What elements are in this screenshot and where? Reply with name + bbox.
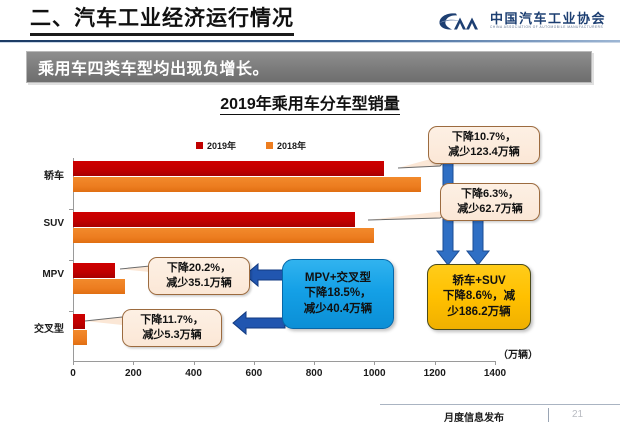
y-label-sedan: 轿车 xyxy=(0,167,64,182)
x-tick-label-1200: 1200 xyxy=(424,368,446,379)
slide: 二、汽车工业经济运行情况 中国汽车工业协会 CHINA ASSOCIATION … xyxy=(0,0,620,429)
callout-suv-line1: 下降6.3%， xyxy=(446,187,534,202)
y-tick-1 xyxy=(69,209,73,210)
x-tick-200 xyxy=(133,361,134,365)
footer-text: 月度信息发布 xyxy=(444,409,504,424)
x-tick-1200 xyxy=(435,361,436,365)
footer-separator xyxy=(548,408,549,422)
callout-crossover-line2: 减少5.3万辆 xyxy=(128,328,216,343)
footer-divider xyxy=(380,404,620,405)
x-tick-1000 xyxy=(374,361,375,365)
callout-sedan: 下降10.7%， 减少123.4万辆 xyxy=(428,126,540,164)
header-divider-light xyxy=(0,42,620,43)
callout-crossover-line1: 下降11.7%， xyxy=(128,313,216,328)
x-tick-600 xyxy=(254,361,255,365)
x-tick-label-600: 600 xyxy=(246,368,263,379)
bar-2019-mpv xyxy=(73,263,115,278)
callout-suv-line2: 减少62.7万辆 xyxy=(446,202,534,217)
callout-sedan-line2: 减少123.4万辆 xyxy=(434,145,534,160)
x-axis-line xyxy=(73,361,495,362)
chart-legend: 2019年 2018年 xyxy=(196,139,306,152)
summary-yellow-line2: 下降8.6%，减 xyxy=(428,289,530,305)
summary-blue-line2: 下降18.5%， xyxy=(283,286,393,302)
summary-yellow-line1: 轿车+SUV xyxy=(428,274,530,290)
x-tick-0 xyxy=(73,361,74,365)
y-tick-2 xyxy=(69,260,73,261)
x-tick-label-400: 400 xyxy=(185,368,202,379)
x-tick-label-1000: 1000 xyxy=(363,368,385,379)
legend-swatch-2018 xyxy=(266,142,273,149)
legend-label-2018: 2018年 xyxy=(277,139,306,152)
x-tick-label-800: 800 xyxy=(306,368,323,379)
x-tick-400 xyxy=(194,361,195,365)
bar-2019-crossover xyxy=(73,314,85,329)
blue-arrow-to-mpv xyxy=(245,264,285,286)
logo-text-cn: 中国汽车工业协会 xyxy=(490,12,606,26)
page-number: 21 xyxy=(572,409,583,420)
summary-blue-line3: 减少40.4万辆 xyxy=(283,302,393,318)
bar-2018-crossover xyxy=(73,330,87,345)
callout-mpv: 下降20.2%， 减少35.1万辆 xyxy=(148,257,250,295)
axis-unit-label: （万辆） xyxy=(498,346,538,361)
logo-text: 中国汽车工业协会 CHINA ASSOCIATION OF AUTOMOBILE… xyxy=(490,12,606,30)
y-tick-3 xyxy=(69,311,73,312)
bar-2018-suv xyxy=(73,228,374,243)
y-label-crossover: 交叉型 xyxy=(0,320,64,335)
blue-arrow-down-suv xyxy=(467,213,489,265)
summary-banner-text: 乘用车四类车型均出现负增长。 xyxy=(27,55,269,79)
callout-mpv-line1: 下降20.2%， xyxy=(154,261,244,276)
summary-yellow-line3: 少186.2万辆 xyxy=(428,305,530,321)
legend-item-2019: 2019年 xyxy=(196,139,236,152)
legend-swatch-2019 xyxy=(196,142,203,149)
logo-text-en: CHINA ASSOCIATION OF AUTOMOBILE MANUFACT… xyxy=(490,26,606,30)
callout-suv: 下降6.3%， 减少62.7万辆 xyxy=(440,183,540,221)
bar-2018-sedan xyxy=(73,177,421,192)
cam-logo-icon xyxy=(437,9,483,33)
summary-banner: 乘用车四类车型均出现负增长。 xyxy=(26,51,592,83)
summary-box-sedan-suv: 轿车+SUV 下降8.6%，减 少186.2万辆 xyxy=(427,264,531,330)
callout-crossover: 下降11.7%， 减少5.3万辆 xyxy=(122,309,222,347)
page-title: 二、汽车工业经济运行情况 xyxy=(30,6,294,36)
x-tick-label-200: 200 xyxy=(125,368,142,379)
bar-2019-suv xyxy=(73,212,355,227)
y-label-suv: SUV xyxy=(0,218,64,229)
bar-2018-mpv xyxy=(73,279,125,294)
x-tick-label-1400: 1400 xyxy=(484,368,506,379)
x-tick-800 xyxy=(314,361,315,365)
legend-label-2019: 2019年 xyxy=(207,139,236,152)
summary-box-mpv-crossover: MPV+交叉型 下降18.5%， 减少40.4万辆 xyxy=(282,259,394,329)
bar-2019-sedan xyxy=(73,161,384,176)
summary-blue-line1: MPV+交叉型 xyxy=(283,271,393,287)
blue-arrow-to-crossover xyxy=(233,312,285,334)
callout-mpv-line2: 减少35.1万辆 xyxy=(154,276,244,291)
y-label-mpv: MPV xyxy=(0,269,64,280)
x-tick-1400 xyxy=(495,361,496,365)
legend-item-2018: 2018年 xyxy=(266,139,306,152)
callout-sedan-line1: 下降10.7%， xyxy=(434,130,534,145)
x-tick-label-0: 0 xyxy=(70,368,76,379)
chart-plot-area: 2019年 2018年 轿车 SUV MPV 交叉型 0200400600 xyxy=(0,118,620,388)
chart-title: 2019年乘用车分车型销量 xyxy=(0,90,620,114)
caam-logo: 中国汽车工业协会 CHINA ASSOCIATION OF AUTOMOBILE… xyxy=(437,7,606,35)
chart-title-text: 2019年乘用车分车型销量 xyxy=(220,96,400,115)
